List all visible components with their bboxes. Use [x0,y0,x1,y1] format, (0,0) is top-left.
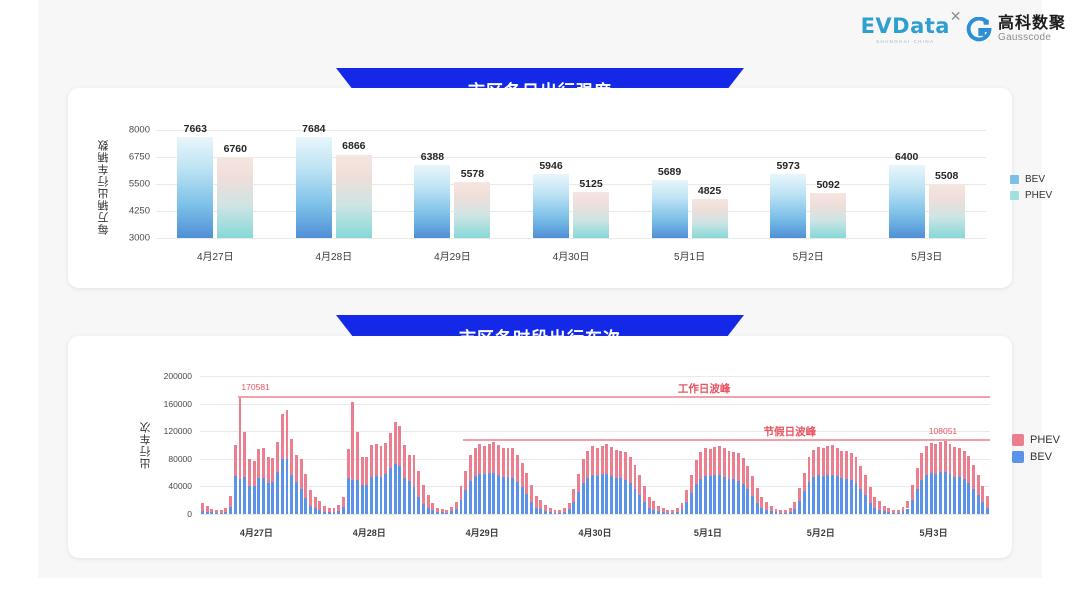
chart-card-daily-intensity: 每万辆出行车辆数30004250550067508000766367604月27… [68,88,1012,288]
stacked-seg-bev-34 [361,485,364,514]
stacked-bar-111 [723,448,726,514]
stacked-seg-phev-80 [577,474,580,492]
stacked-seg-phev-63 [497,445,500,475]
stacked-seg-phev-59 [478,444,481,473]
stacked-bar-29 [337,505,340,514]
stacked-seg-phev-20 [295,455,298,481]
legend-label-phev: PHEV [1025,190,1052,201]
stacked-bar-91 [629,457,632,514]
stacked-bar-33 [356,432,359,514]
stacked-seg-phev-57 [469,455,472,481]
stacked-seg-bev-85 [601,474,604,514]
stacked-seg-phev-167 [986,496,989,508]
stacked-bar-114 [737,453,740,514]
stacked-bar-64 [502,448,505,514]
stacked-seg-bev-165 [977,495,980,514]
stacked-bar-109 [713,447,716,514]
stacked-seg-phev-36 [370,445,373,477]
stacked-bar-165 [977,475,980,514]
stacked-seg-phev-83 [591,446,594,474]
stacked-seg-phev-144 [878,501,881,510]
stacked-bar-90 [624,452,627,514]
stacked-bar-95 [648,497,651,514]
bar-phev-1 [336,155,372,239]
bar-value-bev-0: 7663 [184,123,207,135]
stacked-seg-bev-114 [737,481,740,514]
xtick-hourly-6: 5月3日 [920,526,948,539]
stacked-seg-bev-144 [878,510,881,514]
stacked-seg-bev-143 [873,508,876,514]
stacked-seg-bev-25 [318,510,321,514]
annotation-line-weekday-peak [238,396,990,397]
legend2-label-bev: BEV [1030,451,1052,463]
axis-title-hourly-trips: 出行车次 [138,376,154,514]
stacked-bar-167 [986,496,989,514]
stacked-seg-phev-44 [408,455,411,482]
stacked-seg-bev-161 [958,477,961,514]
stacked-bar-127 [798,488,801,514]
xtick-daily-5: 5月2日 [793,248,824,263]
stacked-seg-bev-5 [224,512,227,514]
stacked-seg-bev-73 [544,511,547,514]
stacked-seg-bev-66 [511,478,514,514]
stacked-seg-bev-139 [855,483,858,514]
stacked-bar-75 [554,510,557,514]
peak-value-holiday: 108051 [929,426,957,436]
stacked-seg-phev-104 [690,475,693,492]
stacked-seg-bev-154 [925,475,928,514]
header-logo-bar: EVData✕ shanghai china 高科数聚 Gausscode [861,12,1066,48]
gridline-y-8000 [156,130,986,131]
stacked-seg-phev-112 [728,451,731,479]
stacked-bar-21 [300,459,303,514]
stacked-bar-149 [902,507,905,514]
stacked-bar-85 [601,446,604,514]
stacked-seg-phev-159 [949,444,952,474]
stacked-seg-bev-137 [845,479,848,514]
stacked-seg-bev-1 [206,512,209,514]
stacked-seg-phev-107 [704,448,707,476]
stacked-bar-39 [384,443,387,514]
stacked-seg-bev-57 [469,481,472,514]
stacked-seg-bev-60 [483,474,486,514]
stacked-seg-bev-44 [408,481,411,514]
stacked-bar-131 [817,447,820,514]
stacked-seg-phev-40 [389,433,392,468]
stacked-bar-119 [760,497,763,514]
stacked-seg-phev-157 [939,442,942,472]
stacked-seg-phev-33 [356,432,359,480]
stacked-seg-bev-74 [549,512,552,514]
stacked-seg-bev-156 [934,474,937,514]
stacked-bar-42 [398,426,401,514]
stacked-bar-37 [375,444,378,514]
stacked-seg-bev-105 [695,484,698,514]
stacked-bar-2 [210,509,213,514]
stacked-seg-phev-88 [615,450,618,478]
stacked-seg-phev-103 [685,490,688,502]
stacked-seg-bev-126 [793,509,796,514]
stacked-bar-133 [826,446,829,514]
stacked-bar-81 [582,459,585,514]
stacked-bar-110 [718,446,721,514]
stacked-bar-150 [906,501,909,514]
stacked-seg-phev-91 [629,457,632,483]
stacked-seg-bev-81 [582,483,585,514]
stacked-seg-phev-164 [972,465,975,489]
stacked-seg-bev-42 [398,466,401,514]
stacked-bar-57 [469,455,472,514]
stacked-bar-93 [638,475,641,514]
stacked-bar-17 [281,414,284,514]
stacked-seg-phev-54 [455,502,458,509]
bar-bev-5 [770,174,806,238]
stacked-seg-bev-91 [629,483,632,514]
stacked-seg-bev-70 [530,502,533,514]
stacked-bar-6 [229,496,232,514]
ytick-label-3000: 3000 [110,233,150,244]
stacked-bar-19 [290,439,293,514]
legend-item-bev: BEV [1010,174,1052,185]
stacked-bar-78 [568,503,571,514]
stacked-bar-128 [803,473,806,514]
bar-bev-2 [414,165,450,238]
stacked-seg-phev-130 [812,450,815,478]
stacked-seg-phev-64 [502,448,505,477]
stacked-bar-66 [511,448,514,514]
stacked-seg-bev-119 [760,508,763,514]
bar-value-bev-3: 5946 [539,160,562,172]
stacked-seg-bev-167 [986,508,989,514]
stacked-seg-phev-82 [586,451,589,478]
stacked-seg-phev-48 [427,495,430,507]
stacked-seg-phev-60 [483,446,486,475]
stacked-seg-bev-71 [535,508,538,514]
stacked-seg-phev-61 [488,444,491,474]
stacked-bar-4 [220,510,223,514]
stacked-bar-51 [441,509,444,514]
stacked-seg-phev-141 [864,475,867,495]
stacked-seg-phev-84 [596,448,599,476]
stacked-bar-151 [911,485,914,514]
stacked-bar-122 [775,509,778,514]
stacked-seg-bev-75 [554,513,557,514]
stacked-seg-bev-27 [328,512,331,514]
stacked-bar-77 [563,508,566,514]
stacked-seg-bev-117 [751,496,754,514]
stacked-bar-155 [930,443,933,514]
gausscode-logo: 高科数聚 Gausscode [966,16,1066,43]
stacked-bar-134 [831,445,834,514]
stacked-bar-12 [257,449,260,514]
stacked-bar-163 [967,456,970,514]
stacked-bar-113 [732,452,735,514]
stacked-bar-142 [869,487,872,514]
stacked-bar-45 [413,455,416,514]
chart-card-hourly-trips: 出行车次040000800001200001600002000004月27日4月… [68,336,1012,558]
stacked-seg-bev-115 [742,484,745,514]
stacked-bar-16 [276,442,279,514]
stacked-seg-phev-114 [737,453,740,480]
stacked-bar-7 [234,445,237,514]
stacked-seg-bev-45 [413,487,416,514]
stacked-seg-phev-43 [403,445,406,478]
stacked-seg-bev-135 [836,476,839,514]
bar-bev-4 [652,180,688,238]
stacked-seg-bev-7 [234,476,237,514]
bar-value-bev-4: 5689 [658,166,681,178]
ytick-label-4250: 4250 [110,206,150,217]
ytick2-label-40000: 40000 [146,481,192,491]
stacked-seg-phev-155 [930,443,933,473]
stacked-bar-130 [812,450,815,514]
stacked-seg-phev-95 [648,497,651,508]
stacked-seg-bev-122 [775,512,778,514]
stacked-seg-bev-55 [460,500,463,514]
stacked-bar-43 [403,445,406,514]
stacked-seg-phev-156 [934,444,937,473]
stacked-seg-phev-32 [351,402,354,481]
stacked-seg-phev-35 [365,457,368,484]
evdata-logo-x-icon: ✕ [950,10,962,24]
stacked-bar-59 [478,444,481,514]
stacked-seg-phev-79 [572,489,575,501]
stacked-bar-36 [370,445,373,514]
stacked-seg-bev-151 [911,500,914,514]
stacked-seg-bev-76 [558,513,561,514]
bar-phev-3 [573,192,609,238]
bar-bev-0 [177,137,213,238]
xtick-hourly-4: 5月1日 [694,526,722,539]
stacked-seg-phev-19 [290,439,293,475]
stacked-bar-153 [920,453,923,514]
stacked-seg-bev-104 [690,493,693,514]
stacked-bar-69 [525,473,528,514]
stacked-bar-145 [883,506,886,514]
stacked-bar-120 [765,502,768,514]
stacked-seg-bev-22 [304,498,307,514]
legend-daily-intensity: BEVPHEV [1010,174,1052,201]
stacked-seg-phev-111 [723,448,726,476]
bar-value-bev-5: 5973 [776,160,799,172]
stacked-seg-bev-128 [803,491,806,514]
stacked-seg-phev-30 [342,497,345,507]
ytick2-label-200000: 200000 [146,371,192,381]
stacked-seg-phev-161 [958,448,961,477]
stacked-seg-bev-47 [422,504,425,514]
stacked-bar-65 [507,448,510,514]
stacked-bar-102 [681,503,684,514]
stacked-seg-phev-12 [257,449,260,478]
stacked-seg-phev-115 [742,458,745,484]
stacked-seg-bev-78 [568,509,571,514]
stacked-bar-56 [464,471,467,514]
stacked-seg-phev-65 [507,448,510,477]
stacked-bar-146 [887,508,890,514]
stacked-bar-121 [770,506,773,514]
stacked-seg-bev-24 [314,508,317,514]
stacked-seg-bev-62 [492,473,495,514]
stacked-seg-phev-132 [822,448,825,476]
stacked-seg-bev-12 [257,478,260,514]
stacked-seg-bev-130 [812,477,815,514]
stacked-seg-bev-86 [605,474,608,514]
stacked-seg-bev-49 [431,510,434,514]
stacked-bar-15 [271,458,274,514]
stacked-seg-phev-120 [765,502,768,510]
stacked-seg-phev-158 [944,439,947,471]
stacked-bar-132 [822,448,825,514]
legend-label-bev: BEV [1025,174,1045,185]
stacked-seg-phev-6 [229,496,232,507]
stacked-bar-96 [652,501,655,514]
stacked-seg-bev-159 [949,474,952,514]
stacked-seg-bev-129 [808,482,811,514]
stacked-bar-135 [836,448,839,514]
stacked-seg-bev-59 [478,474,481,514]
stacked-bar-44 [408,455,411,514]
stacked-bar-99 [666,510,669,514]
stacked-seg-bev-113 [732,479,735,514]
stacked-seg-phev-165 [977,475,980,495]
stacked-bar-83 [591,446,594,514]
stacked-seg-phev-15 [271,458,274,482]
stacked-seg-bev-32 [351,480,354,514]
stacked-seg-phev-9 [243,432,246,477]
stacked-seg-bev-19 [290,475,293,514]
legend2-label-phev: PHEV [1030,434,1060,446]
stacked-bar-71 [535,496,538,514]
stacked-seg-bev-51 [441,512,444,514]
stacked-seg-phev-116 [746,466,749,489]
gridline-y-4250 [156,211,986,212]
stacked-seg-phev-150 [906,501,909,509]
stacked-bar-154 [925,446,928,514]
stacked-bar-9 [243,432,246,514]
stacked-bar-67 [516,455,519,514]
ytick2-label-0: 0 [146,509,192,519]
stacked-seg-bev-97 [657,511,660,514]
stacked-bar-160 [953,447,956,514]
stacked-seg-phev-23 [309,490,312,506]
stacked-seg-bev-10 [248,486,251,514]
stacked-seg-bev-72 [539,509,542,514]
stacked-bar-24 [314,497,317,514]
stacked-bar-107 [704,448,707,514]
stacked-seg-phev-94 [643,486,646,502]
gridline2-y-120000 [200,431,990,432]
stacked-seg-bev-99 [666,513,669,514]
stacked-seg-bev-142 [869,503,872,514]
stacked-bar-106 [699,452,702,514]
stacked-seg-bev-89 [619,478,622,514]
stacked-seg-phev-90 [624,452,627,480]
stacked-bar-124 [784,510,787,514]
stacked-seg-phev-152 [916,468,919,488]
stacked-seg-phev-160 [953,447,956,476]
stacked-seg-phev-8 [239,396,242,478]
stacked-seg-phev-34 [361,457,364,486]
stacked-bar-0 [201,503,204,514]
stacked-bar-157 [939,442,942,514]
stacked-seg-phev-113 [732,452,735,479]
stacked-seg-bev-134 [831,475,834,514]
stacked-bar-159 [949,444,952,514]
bar-value-phev-1: 6866 [342,140,365,152]
evdata-logo-wordmark: EVData [861,14,950,38]
stacked-seg-bev-163 [967,483,970,514]
ytick2-label-120000: 120000 [146,426,192,436]
stacked-seg-phev-93 [638,475,641,495]
stacked-seg-bev-30 [342,507,345,514]
xtick-hourly-5: 5月2日 [807,526,835,539]
stacked-seg-bev-38 [380,477,383,514]
chart-hourly-trips: 出行车次040000800001200001600002000004月27日4月… [200,376,990,514]
stacked-seg-phev-154 [925,446,928,475]
gridline2-y-0 [200,514,990,515]
stacked-seg-phev-139 [855,457,858,483]
stacked-bar-103 [685,490,688,514]
stacked-seg-phev-7 [234,445,237,476]
stacked-seg-bev-132 [822,476,825,514]
stacked-seg-bev-11 [253,486,256,514]
bar-value-bev-1: 7684 [302,123,325,135]
stacked-seg-bev-56 [464,490,467,514]
bar-value-phev-5: 5092 [816,179,839,191]
gausscode-logo-text: 高科数聚 Gausscode [998,16,1066,43]
stacked-bar-147 [892,510,895,514]
gridline2-y-160000 [200,404,990,405]
stacked-bar-5 [224,508,227,514]
stacked-seg-bev-4 [220,513,223,514]
stacked-seg-bev-166 [981,502,984,514]
stacked-seg-phev-86 [605,444,608,474]
stacked-seg-bev-48 [427,508,430,514]
stacked-seg-phev-37 [375,444,378,476]
legend-hourly-trips: PHEVBEV [1012,434,1060,463]
stacked-bar-47 [422,485,425,514]
stacked-seg-bev-6 [229,507,232,514]
evdata-logo-subtitle: shanghai china [876,40,934,45]
stacked-seg-phev-16 [276,442,279,472]
stacked-seg-bev-118 [756,503,759,514]
stacked-bar-152 [916,468,919,514]
stacked-seg-bev-58 [474,476,477,514]
stacked-seg-bev-157 [939,472,942,514]
bar-bev-6 [889,165,925,238]
stacked-bar-117 [751,476,754,514]
stacked-seg-bev-69 [525,494,528,514]
stacked-seg-phev-71 [535,496,538,508]
stacked-bar-68 [521,463,524,514]
stacked-seg-phev-0 [201,503,204,511]
bar-value-phev-4: 4825 [698,185,721,197]
stacked-seg-bev-146 [887,512,890,514]
stacked-seg-phev-24 [314,497,317,509]
ytick-label-5500: 5500 [110,179,150,190]
stacked-bar-104 [690,475,693,514]
stacked-seg-phev-14 [267,457,270,483]
stacked-seg-bev-20 [295,482,298,514]
xtick-daily-0: 4月27日 [197,248,234,263]
bar-value-phev-0: 6760 [224,143,247,155]
stacked-seg-bev-46 [417,497,420,514]
stacked-seg-phev-47 [422,485,425,504]
gridline-y-5500 [156,184,986,185]
stacked-seg-bev-77 [563,512,566,514]
legend-swatch-bev [1010,175,1019,184]
gausscode-logo-en: Gausscode [998,33,1066,44]
